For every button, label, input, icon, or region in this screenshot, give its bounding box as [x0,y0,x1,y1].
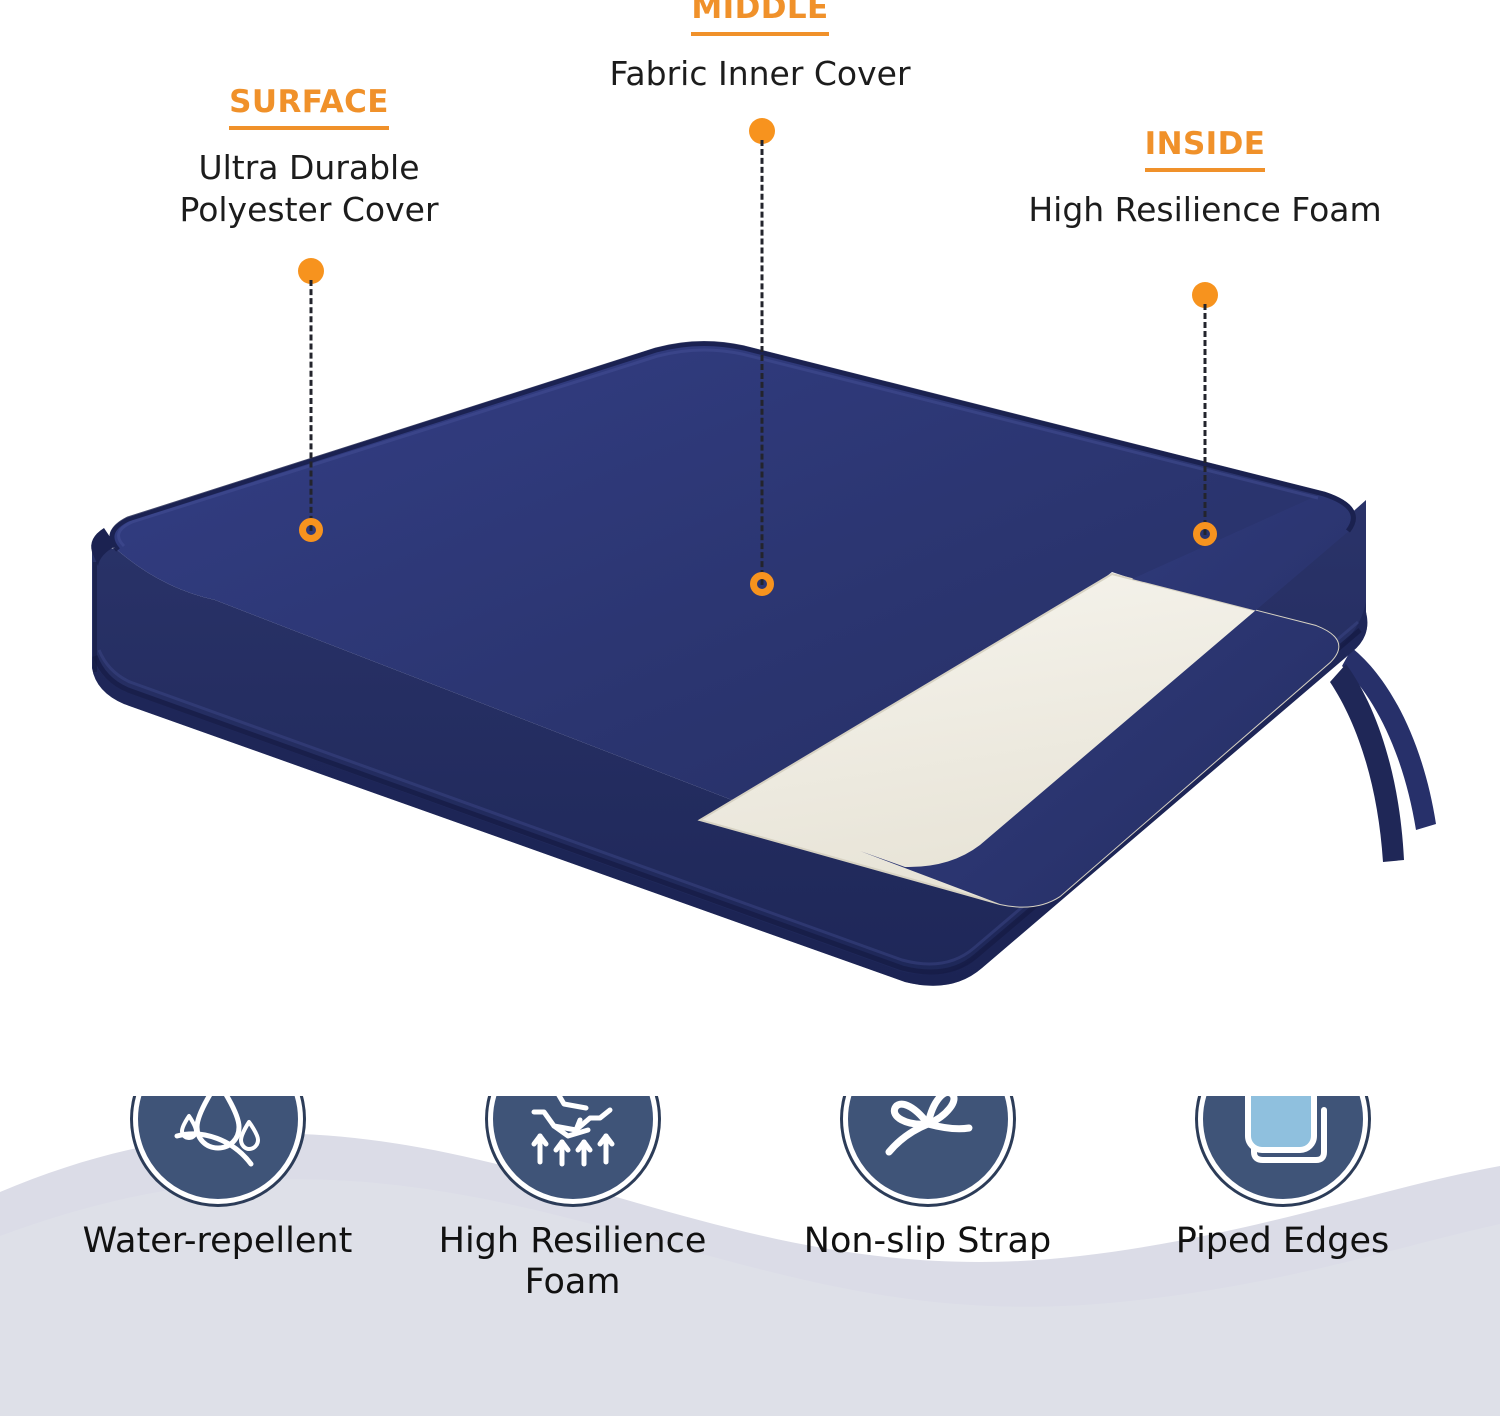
badge-high-resilience-foam [488,1096,658,1204]
resilience-foam-icon [514,1096,632,1178]
stacked-cushion-icon [1224,1096,1342,1178]
callout-surface-desc: Ultra Durable Polyester Cover [104,147,514,231]
bow-strap-icon [869,1096,987,1178]
leader-dash-surface [310,280,313,531]
badge-non-slip-strap [843,1096,1013,1204]
callout-surface: SURFACE Ultra Durable Polyester Cover [104,86,514,231]
callout-middle: MIDDLE Fabric Inner Cover [555,0,965,95]
leader-surface [296,258,326,542]
infographic-stage: SURFACE Ultra Durable Polyester Cover MI… [0,0,1500,1416]
callout-middle-desc: Fabric Inner Cover [555,53,965,95]
orange-ring-marker-middle [750,572,774,596]
callout-surface-kicker: SURFACE [229,86,389,130]
feature-piped-edges: Piped Edges [1133,1096,1433,1262]
callout-inside-desc: High Resilience Foam [990,189,1420,231]
feature-label-water-repellent: Water-repellent [83,1221,353,1262]
badge-piped-edges [1198,1096,1368,1204]
orange-ring-marker-inside [1193,522,1217,546]
leader-dash-middle [761,140,764,585]
badge-water-repellent [133,1096,303,1204]
leader-middle [747,118,777,596]
orange-ring-marker-surface [299,518,323,542]
feature-high-resilience-foam: High Resilience Foam [423,1096,723,1304]
feature-label-non-slip-strap: Non-slip Strap [804,1221,1051,1262]
feature-label-high-resilience-foam: High Resilience Foam [439,1221,707,1304]
callout-inside: INSIDE High Resilience Foam [990,128,1420,231]
callout-middle-kicker: MIDDLE [691,0,828,36]
feature-water-repellent: Water-repellent [68,1096,368,1262]
leader-dash-inside [1204,304,1207,535]
feature-label-piped-edges: Piped Edges [1176,1221,1389,1262]
feature-band: Water-repellent [0,1096,1500,1416]
feature-row: Water-repellent [0,1096,1500,1416]
feature-non-slip-strap: Non-slip Strap [778,1096,1078,1262]
callout-inside-kicker: INSIDE [1145,128,1266,172]
leader-inside [1190,282,1220,546]
strap-group [1330,648,1436,862]
water-drop-icon [159,1096,277,1178]
